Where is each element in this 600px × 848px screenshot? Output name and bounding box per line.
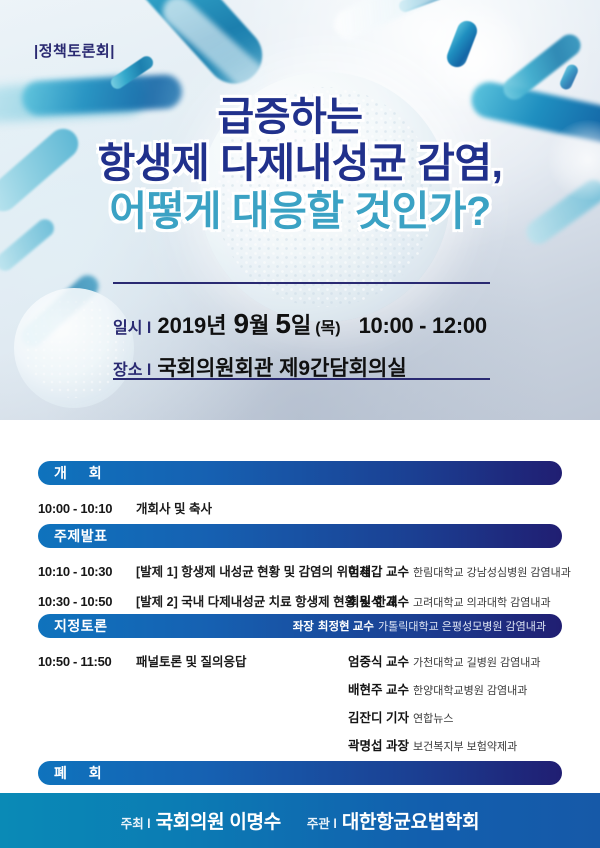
row-speaker: 이재갑 교수 한림대학교 강남성심병원 감염내과 <box>348 561 571 580</box>
divider-bottom <box>113 378 490 380</box>
speaker-name: 최원석 교수 <box>348 591 409 610</box>
chair-name: 최정현 교수 <box>318 618 374 634</box>
panelist-name: 엄중식 교수 <box>348 651 409 670</box>
row-time: 10:00 - 10:10 <box>38 501 136 516</box>
row-title: [발제 1] 항생제 내성균 현황 및 감염의 위험성 <box>136 561 371 580</box>
date-weekday: (목) <box>315 314 340 338</box>
footer-organizer: 주관 l 대한항균요법학회 <box>307 807 479 834</box>
divider-top <box>113 282 490 284</box>
section-title-presentation: 주제발표 <box>54 526 108 546</box>
footer-bar: 주최 l 국회의원 이명수 주관 l 대한항균요법학회 <box>0 793 600 848</box>
panelist-affiliation: 가천대학교 길병원 감염내과 <box>413 654 541 670</box>
section-bar-closing: 폐 회 <box>38 761 562 785</box>
organizer-label: 주관 l <box>307 813 337 832</box>
chair-info: 좌장 최정현 교수 가톨릭대학교 은평성모병원 감염내과 <box>293 618 546 634</box>
section-bar-presentation: 주제발표 <box>38 524 562 548</box>
row-time: 10:30 - 10:50 <box>38 594 136 609</box>
panelist-name: 곽명섭 과장 <box>348 735 409 754</box>
bacteria-rod-icon <box>558 63 580 92</box>
row-title: 개회사 및 축사 <box>136 498 212 517</box>
date-month-number: 9 <box>234 308 250 340</box>
panelist-affiliation: 한양대학교병원 감염내과 <box>413 682 527 698</box>
poster-headline: 급증하는 항생제 다제내성균 감염, 어떻게 대응할 것인가? <box>0 96 600 233</box>
headline-line-1: 급증하는 <box>0 96 600 138</box>
organizer-value: 대한항균요법학회 <box>342 807 479 834</box>
panelist-affiliation: 보건복지부 보험약제과 <box>413 738 517 754</box>
speaker-name: 이재갑 교수 <box>348 561 409 580</box>
row-title: 패널토론 및 질의응답 <box>136 651 246 670</box>
event-date-row: 일시 l 2019년 9 월 5 일 (목) 10:00 - 12:00 <box>113 308 533 340</box>
section-bar-discussion: 지정토론 좌장 최정현 교수 가톨릭대학교 은평성모병원 감염내과 <box>38 614 562 638</box>
place-label: 장소 l <box>113 356 151 380</box>
date-year: 2019년 <box>157 308 226 340</box>
category-badge: |정책토론회| <box>34 40 115 61</box>
panelist-affiliation: 연합뉴스 <box>413 710 453 726</box>
host-label: 주최 l <box>121 813 151 832</box>
section-title-closing: 폐 회 <box>54 763 111 783</box>
headline-line-3: 어떻게 대응할 것인가? <box>0 190 600 233</box>
date-month-unit: 월 <box>249 308 269 340</box>
program-row: 10:00 - 10:10 개회사 및 축사 <box>38 498 568 517</box>
panelist: 엄중식 교수 가천대학교 길병원 감염내과 <box>348 651 541 670</box>
chair-label: 좌장 <box>293 618 314 634</box>
program-section: 개 회 10:00 - 10:10 개회사 및 축사 주제발표 10:10 - … <box>0 420 600 793</box>
row-speaker: 최원석 교수 고려대학교 의과대학 감염내과 <box>348 591 551 610</box>
date-day-number: 5 <box>275 308 291 340</box>
footer-host: 주최 l 국회의원 이명수 <box>121 807 281 834</box>
row-time: 10:50 - 11:50 <box>38 654 136 669</box>
section-title-discussion: 지정토론 <box>54 616 108 636</box>
section-title-opening: 개 회 <box>54 463 111 483</box>
panelist-name: 김잔디 기자 <box>348 707 409 726</box>
chair-affiliation: 가톨릭대학교 은평성모병원 감염내과 <box>378 618 546 634</box>
speaker-affiliation: 고려대학교 의과대학 감염내과 <box>413 594 551 610</box>
row-time: 10:10 - 10:30 <box>38 564 136 579</box>
panelist-name: 배현주 교수 <box>348 679 409 698</box>
hero-section: |정책토론회| 급증하는 항생제 다제내성균 감염, 어떻게 대응할 것인가? … <box>0 0 600 420</box>
speaker-affiliation: 한림대학교 강남성심병원 감염내과 <box>413 564 571 580</box>
panelist: 배현주 교수 한양대학교병원 감염내과 <box>348 679 527 698</box>
event-info: 일시 l 2019년 9 월 5 일 (목) 10:00 - 12:00 장소 … <box>113 292 533 382</box>
section-bar-opening: 개 회 <box>38 461 562 485</box>
headline-line-2: 항생제 다제내성균 감염, <box>0 142 600 185</box>
panelist: 곽명섭 과장 보건복지부 보험약제과 <box>348 735 517 754</box>
date-label: 일시 l <box>113 314 151 338</box>
date-day-unit: 일 <box>291 308 311 340</box>
host-value: 국회의원 이명수 <box>156 807 281 834</box>
poster: |정책토론회| 급증하는 항생제 다제내성균 감염, 어떻게 대응할 것인가? … <box>0 0 600 848</box>
panelist: 김잔디 기자 연합뉴스 <box>348 707 453 726</box>
date-time-range: 10:00 - 12:00 <box>359 313 487 339</box>
